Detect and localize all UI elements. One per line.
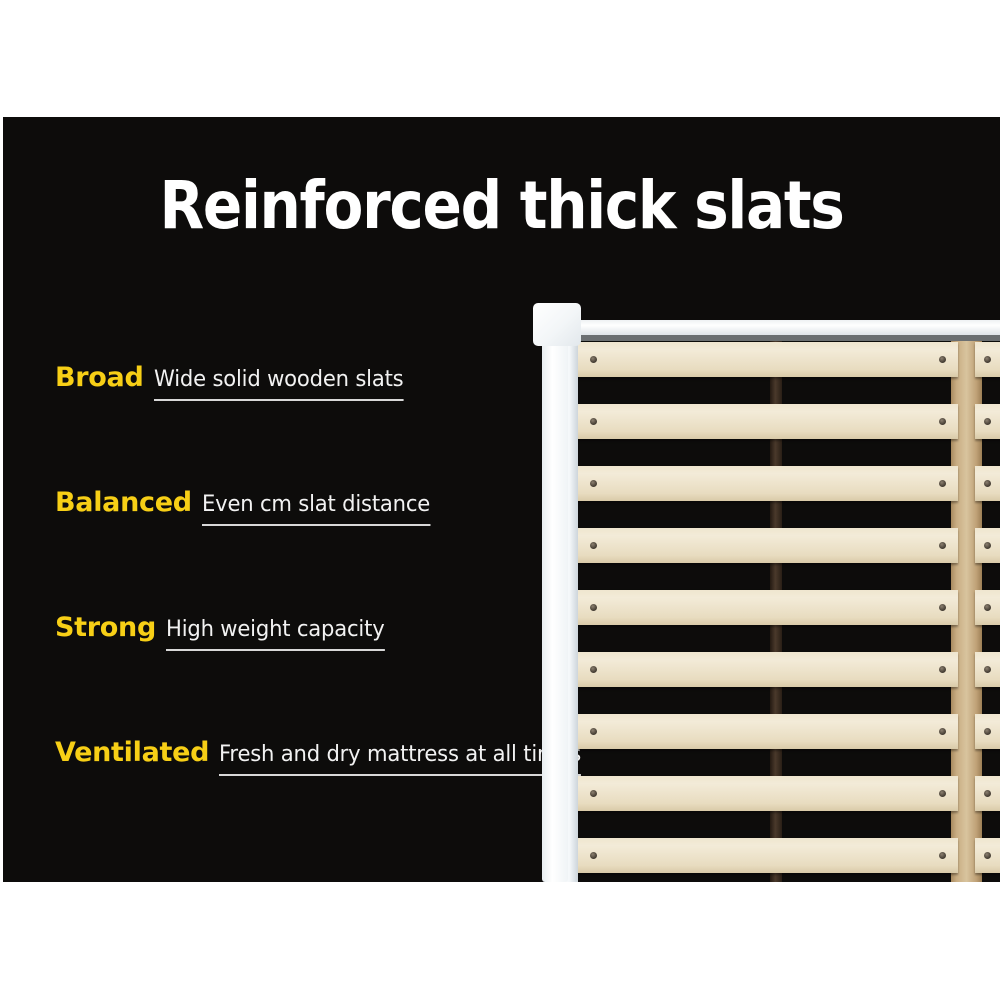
- slat-screw: [590, 666, 597, 673]
- feature-term: Strong: [55, 612, 156, 643]
- wooden-slat: [975, 404, 1000, 439]
- wooden-slat: [568, 528, 958, 563]
- bed-corner-post-cap: [533, 303, 581, 346]
- wooden-slat: [975, 590, 1000, 625]
- slat-screw: [590, 542, 597, 549]
- wooden-slat: [975, 342, 1000, 377]
- slat-screw: [984, 728, 991, 735]
- slat-screw: [984, 790, 991, 797]
- slat-screw: [590, 356, 597, 363]
- slat-screw: [939, 666, 946, 673]
- wooden-slat: [568, 342, 958, 377]
- wooden-slat: [568, 652, 958, 687]
- slat-screw: [590, 852, 597, 859]
- wooden-slat: [568, 714, 958, 749]
- promo-panel: Reinforced thick slats Broad Wide solid …: [3, 117, 1000, 882]
- slat-screw: [939, 480, 946, 487]
- feature-description: Wide solid wooden slats: [154, 367, 403, 401]
- slat-screw: [590, 728, 597, 735]
- feature-description: Even cm slat distance: [202, 492, 430, 526]
- slat-screw: [590, 418, 597, 425]
- feature-item-broad: Broad Wide solid wooden slats: [55, 362, 525, 487]
- slat-screw: [939, 852, 946, 859]
- bed-corner-leg: [542, 342, 568, 882]
- slat-screw: [984, 356, 991, 363]
- wooden-slat: [568, 404, 958, 439]
- feature-list: Broad Wide solid wooden slats Balanced E…: [55, 362, 525, 862]
- slat-screw: [984, 666, 991, 673]
- slat-screw: [939, 604, 946, 611]
- feature-term: Broad: [55, 362, 144, 393]
- feature-item-ventilated: Ventilated Fresh and dry mattress at all…: [55, 737, 525, 862]
- feature-item-balanced: Balanced Even cm slat distance: [55, 487, 525, 612]
- slat-screw: [590, 790, 597, 797]
- bed-head-rail: [545, 320, 1000, 335]
- slat-screw: [984, 418, 991, 425]
- slat-screw: [939, 542, 946, 549]
- slat-screw: [939, 418, 946, 425]
- slat-screw: [984, 604, 991, 611]
- slat-screw: [590, 480, 597, 487]
- slat-screw: [939, 356, 946, 363]
- product-photo-bed-frame: [520, 117, 1000, 882]
- wooden-slat: [975, 466, 1000, 501]
- wooden-slat: [975, 652, 1000, 687]
- wooden-slat: [568, 838, 958, 873]
- wooden-slat: [975, 776, 1000, 811]
- wooden-slat: [975, 838, 1000, 873]
- slat-screw: [984, 542, 991, 549]
- wooden-slat: [975, 528, 1000, 563]
- slat-screw: [939, 728, 946, 735]
- feature-term: Ventilated: [55, 737, 209, 768]
- slat-screw: [984, 480, 991, 487]
- wooden-slat: [568, 590, 958, 625]
- feature-term: Balanced: [55, 487, 192, 518]
- wooden-slat: [568, 776, 958, 811]
- feature-description: High weight capacity: [166, 617, 385, 651]
- feature-item-strong: Strong High weight capacity: [55, 612, 525, 737]
- slat-deck: [568, 341, 1000, 882]
- slat-screw: [984, 852, 991, 859]
- wooden-slat: [568, 466, 958, 501]
- wooden-slat: [975, 714, 1000, 749]
- slat-screw: [939, 790, 946, 797]
- slat-screw: [590, 604, 597, 611]
